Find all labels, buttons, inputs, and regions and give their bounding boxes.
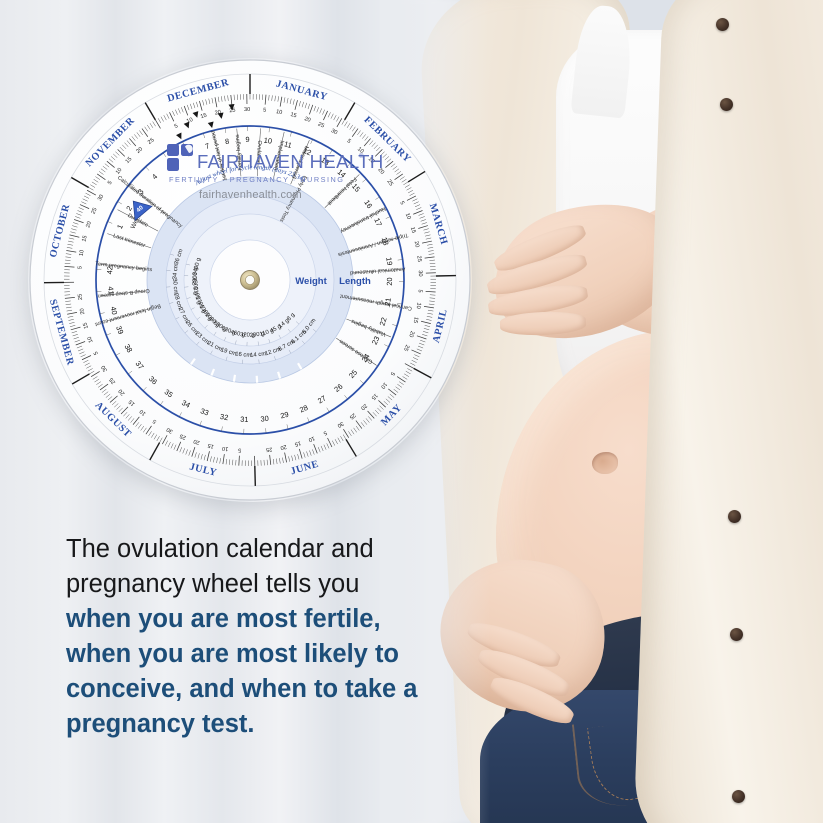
weight-header: Weight [295,276,327,287]
caption-line-1: The ovulation calendar and [66,532,466,567]
svg-text:25: 25 [78,293,85,300]
caption-line-4: when you are most likely to [66,637,466,672]
svg-text:20: 20 [280,443,287,450]
svg-text:5: 5 [417,289,423,293]
svg-text:5: 5 [238,447,241,453]
svg-text:25: 25 [266,446,273,453]
shirt-button-1 [716,18,729,31]
svg-text:25: 25 [415,255,422,262]
pregnancy-wheel[interactable]: 5101520253051015202551015202530510152025… [28,58,472,502]
length-header: Length [339,276,371,287]
shirt-button-2 [720,98,733,111]
shirt-button-5 [732,790,745,803]
wheel-center-hole [245,275,254,284]
brand-trademark: ® [359,153,364,160]
svg-text:10: 10 [276,109,283,116]
svg-text:5: 5 [263,107,267,113]
svg-text:30: 30 [260,414,269,424]
logo-square-3 [167,158,179,171]
shirt-button-3 [728,510,741,523]
svg-text:9: 9 [245,135,249,144]
caption-line-2: pregnancy wheel tells you [66,567,466,602]
caption-line-6: pregnancy test. [66,707,466,742]
caption-block: The ovulation calendar and pregnancy whe… [66,532,466,742]
caption-line-5: conceive, and when to take a [66,672,466,707]
svg-text:19: 19 [384,257,394,266]
svg-text:31: 31 [240,415,249,424]
navel [592,452,618,474]
svg-text:10: 10 [222,445,229,452]
brand-name: FAIRHAVEN HEALTH [197,151,384,172]
shirt-button-4 [730,628,743,641]
caption-line-3: when you are most fertile, [66,602,466,637]
shirt-right-panel [632,0,823,823]
logo-square-1 [167,144,179,156]
svg-text:5: 5 [77,266,83,270]
brand-url: fairhavenhealth.com [199,189,302,201]
svg-text:10: 10 [263,136,272,146]
svg-text:30: 30 [417,270,423,276]
wheel-svg[interactable]: 5101520253051015202551015202530510152025… [28,58,472,502]
svg-text:20: 20 [79,308,86,315]
svg-text:20: 20 [385,277,394,285]
brand-tagline: FERTILITY · PREGNANCY · NURSING [169,175,344,184]
svg-text:20: 20 [413,241,420,248]
svg-text:10: 10 [415,302,422,309]
svg-text:30: 30 [244,107,250,113]
svg-text:32: 32 [219,412,229,422]
screenshot-canvas: 5101520253051015202551015202530510152025… [0,0,823,823]
svg-text:10: 10 [79,249,86,256]
